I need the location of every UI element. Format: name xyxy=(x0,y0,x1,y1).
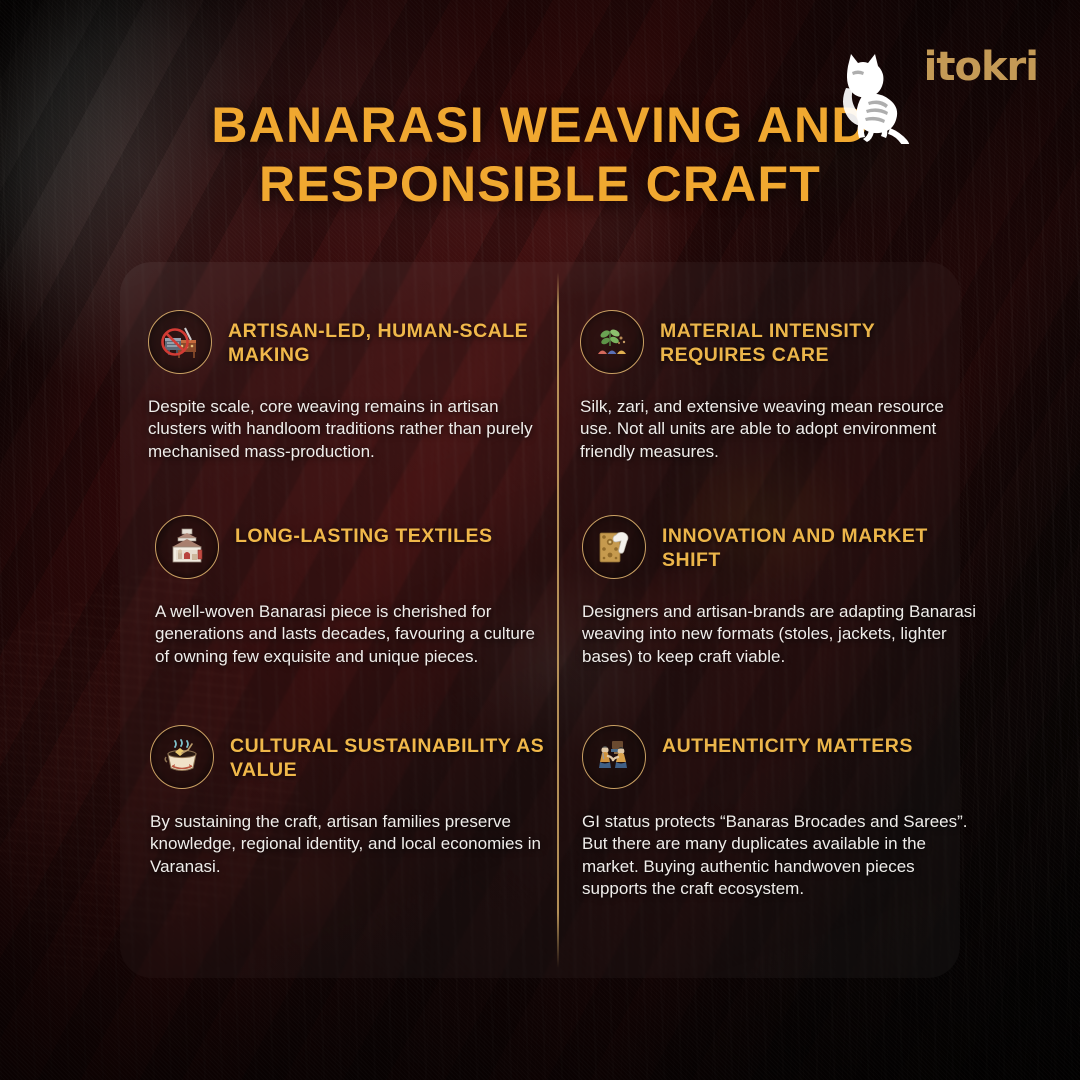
cards-grid: ARTISAN-LED, HUMAN-SCALE MAKING Despite … xyxy=(120,262,960,978)
card-artisan-led: ARTISAN-LED, HUMAN-SCALE MAKING Despite … xyxy=(148,310,543,463)
card-heading: AUTHENTICITY MATTERS xyxy=(662,725,913,759)
card-cultural-sustainability: CULTURAL SUSTAINABILITY AS VALUE By sust… xyxy=(150,725,545,878)
card-authenticity-matters: AUTHENTICITY MATTERS GI status protects … xyxy=(582,725,977,901)
card-body: A well-woven Banarasi piece is cherished… xyxy=(155,601,550,668)
card-long-lasting-textiles: LONG-LASTING TEXTILES A well-woven Banar… xyxy=(155,515,550,668)
card-heading: CULTURAL SUSTAINABILITY AS VALUE xyxy=(230,725,545,783)
card-header: MATERIAL INTENSITY REQUIRES CARE xyxy=(580,310,975,374)
leaf-and-dye-powders-icon xyxy=(580,310,644,374)
card-heading: INNOVATION AND MARKET SHIFT xyxy=(662,515,977,573)
card-innovation-market-shift: INNOVATION AND MARKET SHIFT Designers an… xyxy=(582,515,977,668)
card-body: Designers and artisan-brands are adaptin… xyxy=(582,601,977,668)
hand-holding-brocade-swatch-icon xyxy=(582,515,646,579)
card-header: CULTURAL SUSTAINABILITY AS VALUE xyxy=(150,725,545,789)
card-header: INNOVATION AND MARKET SHIFT xyxy=(582,515,977,579)
infographic-poster: itokri BANARASI WEAVING AND RESPONSIBLE … xyxy=(0,0,1080,1080)
two-seated-artisans-icon xyxy=(582,725,646,789)
steaming-dye-pot-icon xyxy=(150,725,214,789)
card-body: By sustaining the craft, artisan familie… xyxy=(150,811,545,878)
card-heading: ARTISAN-LED, HUMAN-SCALE MAKING xyxy=(228,310,543,368)
card-body: Despite scale, core weaving remains in a… xyxy=(148,396,543,463)
craft-shop-building-icon xyxy=(155,515,219,579)
card-header: AUTHENTICITY MATTERS xyxy=(582,725,977,789)
brand-logo[interactable]: itokri xyxy=(924,44,1038,90)
card-material-intensity: MATERIAL INTENSITY REQUIRES CARE Silk, z… xyxy=(580,310,975,463)
card-body: GI status protects “Banaras Brocades and… xyxy=(582,811,977,901)
no-machine-loom-icon xyxy=(148,310,212,374)
card-header: ARTISAN-LED, HUMAN-SCALE MAKING xyxy=(148,310,543,374)
card-heading: LONG-LASTING TEXTILES xyxy=(235,515,493,549)
title-line-1: BANARASI WEAVING AND xyxy=(211,97,868,153)
card-body: Silk, zari, and extensive weaving mean r… xyxy=(580,396,975,463)
card-heading: MATERIAL INTENSITY REQUIRES CARE xyxy=(660,310,975,368)
title-line-2: RESPONSIBLE CRAFT xyxy=(120,155,960,214)
card-header: LONG-LASTING TEXTILES xyxy=(155,515,550,579)
cat-icon xyxy=(822,52,922,144)
